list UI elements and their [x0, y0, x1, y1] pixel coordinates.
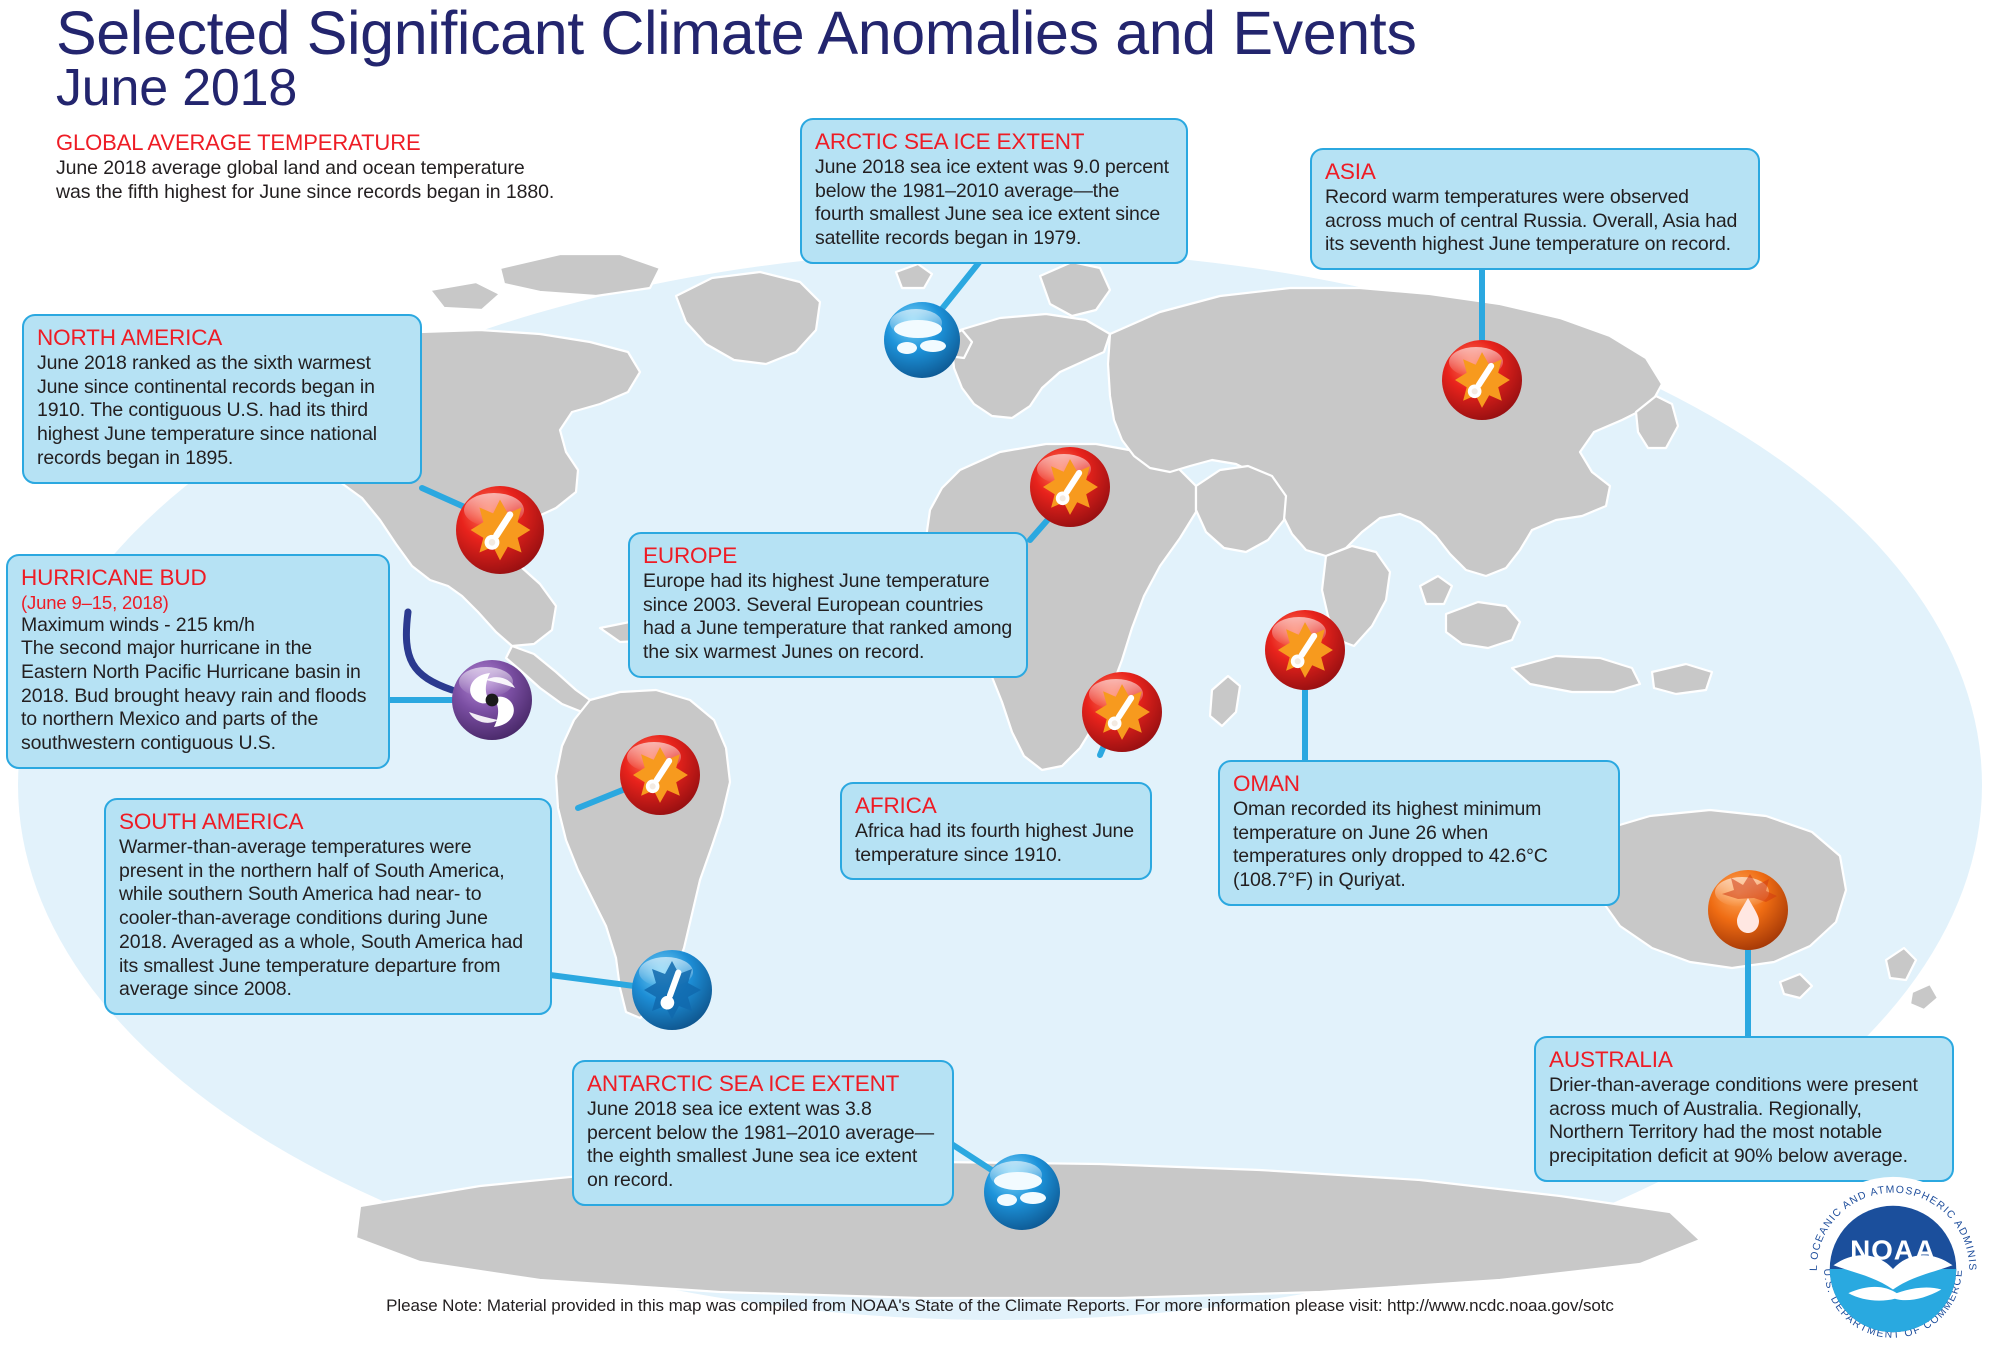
callout-heading: ASIA [1325, 159, 1745, 185]
callout-heading: SOUTH AMERICA [119, 809, 537, 835]
noaa-logo: NATIONAL OCEANIC AND ATMOSPHERIC ADMINIS… [1800, 1176, 1986, 1362]
callout-heading: ANTARCTIC SEA ICE EXTENT [587, 1071, 939, 1097]
infographic-root: Selected Significant Climate Anomalies a… [0, 0, 2000, 1366]
gat-line-1: June 2018 average global land and ocean … [56, 156, 576, 180]
callout-asia[interactable]: ASIA Record warm temperatures were obser… [1310, 148, 1760, 270]
callout-body: Oman recorded its highest minimum temper… [1233, 798, 1605, 893]
callout-body: Europe had its highest June temperature … [643, 570, 1013, 665]
callout-heading: HURRICANE BUD [21, 565, 375, 591]
leader-arctic [925, 255, 985, 330]
callout-body: Record warm temperatures were observed a… [1325, 186, 1745, 257]
page-title: Selected Significant Climate Anomalies a… [56, 2, 1416, 64]
leader-hurricane-curve [406, 612, 452, 690]
leader-south-america [578, 775, 660, 808]
leader-north-america [422, 488, 498, 522]
gat-heading: GLOBAL AVERAGE TEMPERATURE [56, 130, 576, 156]
footer-note: Please Note: Material provided in this m… [0, 1296, 2000, 1316]
global-average-temperature-block: GLOBAL AVERAGE TEMPERATURE June 2018 ave… [56, 130, 576, 204]
callout-heading: EUROPE [643, 543, 1013, 569]
leader-africa [1100, 720, 1115, 755]
callout-north-america[interactable]: NORTH AMERICA June 2018 ranked as the si… [22, 314, 422, 484]
callout-body: June 2018 sea ice extent was 9.0 percent… [815, 156, 1173, 251]
callout-antarctic-sea-ice-extent[interactable]: ANTARCTIC SEA ICE EXTENT June 2018 sea i… [572, 1060, 954, 1206]
callout-body: June 2018 ranked as the sixth warmest Ju… [37, 352, 407, 470]
callout-body: Drier-than-average conditions were prese… [1549, 1074, 1939, 1169]
callout-heading: NORTH AMERICA [37, 325, 407, 351]
callout-oman[interactable]: OMAN Oman recorded its highest minimum t… [1218, 760, 1620, 906]
gat-line-2: was the fifth highest for June since rec… [56, 180, 576, 204]
noaa-wordmark: NOAA [1850, 1235, 1936, 1266]
callout-australia[interactable]: AUSTRALIA Drier-than-average conditions … [1534, 1036, 1954, 1182]
callout-subheading: (June 9–15, 2018) [21, 592, 375, 613]
callout-hurricane-bud[interactable]: HURRICANE BUD (June 9–15, 2018) Maximum … [6, 554, 390, 769]
callout-body: Warmer-than-average temperatures were pr… [119, 836, 537, 1002]
callout-heading: ARCTIC SEA ICE EXTENT [815, 129, 1173, 155]
callout-heading: OMAN [1233, 771, 1605, 797]
callout-body: Africa had its fourth highest June tempe… [855, 820, 1137, 867]
callout-africa[interactable]: AFRICA Africa had its fourth highest Jun… [840, 782, 1152, 880]
callout-body: Maximum winds - 215 km/h The second majo… [21, 614, 375, 756]
leader-europe [1030, 500, 1065, 540]
callout-heading: AFRICA [855, 793, 1137, 819]
callout-body: June 2018 sea ice extent was 3.8 percent… [587, 1098, 939, 1193]
callout-south-america[interactable]: SOUTH AMERICA Warmer-than-average temper… [104, 798, 552, 1015]
callout-europe[interactable]: EUROPE Europe had its highest June tempe… [628, 532, 1028, 678]
leader-south-america-2 [550, 975, 665, 990]
callout-heading: AUSTRALIA [1549, 1047, 1939, 1073]
callout-arctic-sea-ice-extent[interactable]: ARCTIC SEA ICE EXTENT June 2018 sea ice … [800, 118, 1188, 264]
page-subtitle: June 2018 [56, 62, 297, 115]
